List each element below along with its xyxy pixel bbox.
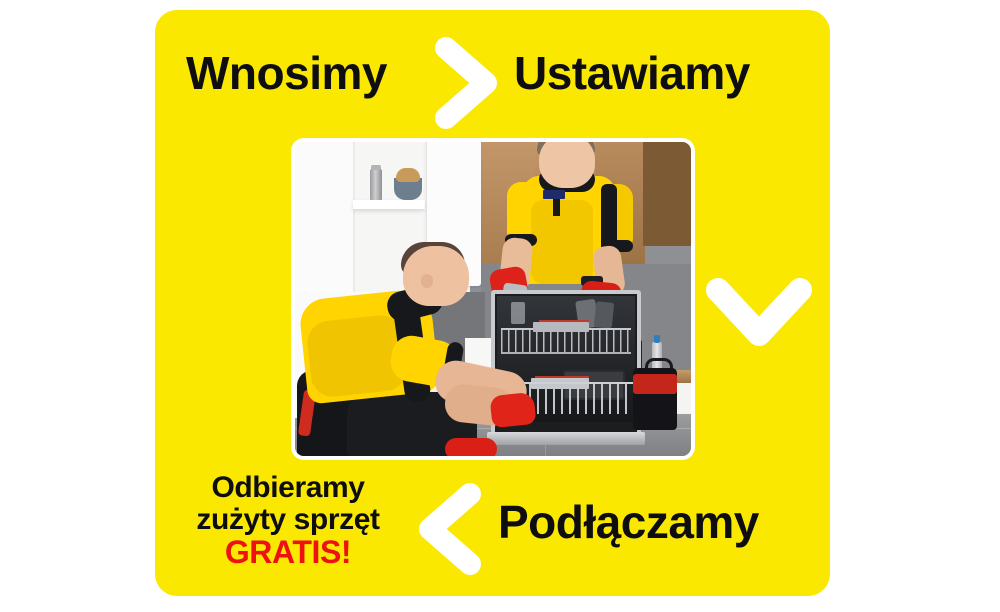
kneeling-worker-glove-right [489,392,536,428]
installation-photo [295,142,691,456]
kneeling-worker-glove-left [445,438,497,456]
shelf-bread [396,168,420,182]
dishwasher-upper-trim [539,320,589,322]
shelf-jar [370,169,382,200]
wood-cabinet-dark [643,142,691,246]
offer-line-gratis: GRATIS! [178,536,398,570]
step-label-ustawiamy: Ustawiamy [514,50,750,96]
kneeling-worker-head [403,246,469,306]
promo-banner: Wnosimy Ustawiamy [0,0,1000,612]
dishwasher-plate-2 [594,301,615,329]
free-disposal-offer: Odbieramy zużyty sprzęt GRATIS! [178,472,398,570]
offer-line-1: Odbieramy [178,472,398,504]
dishwasher-lower-trim [535,376,589,378]
chevron-right-icon [418,28,514,138]
toolbag-stripe [633,374,677,394]
step-label-podlaczamy: Podłączamy [498,499,759,545]
standing-worker-badge [543,190,565,199]
upper-cabinet-left [295,142,357,313]
kitchen-scene [295,142,691,456]
step-label-wnosimy: Wnosimy [186,50,387,96]
offer-line-2: zużyty sprzęt [178,504,398,536]
chevron-left-icon [402,474,498,584]
chevron-down-icon [700,268,818,360]
standing-worker-torso-shade [531,200,593,284]
kneeling-worker-ear [421,274,433,288]
standing-worker-head [539,142,595,188]
dishwasher-upper-tray [533,322,589,332]
dishwasher-glass [511,302,525,324]
cabinet-shelf [353,200,425,209]
dishwasher-open-door [487,432,645,445]
